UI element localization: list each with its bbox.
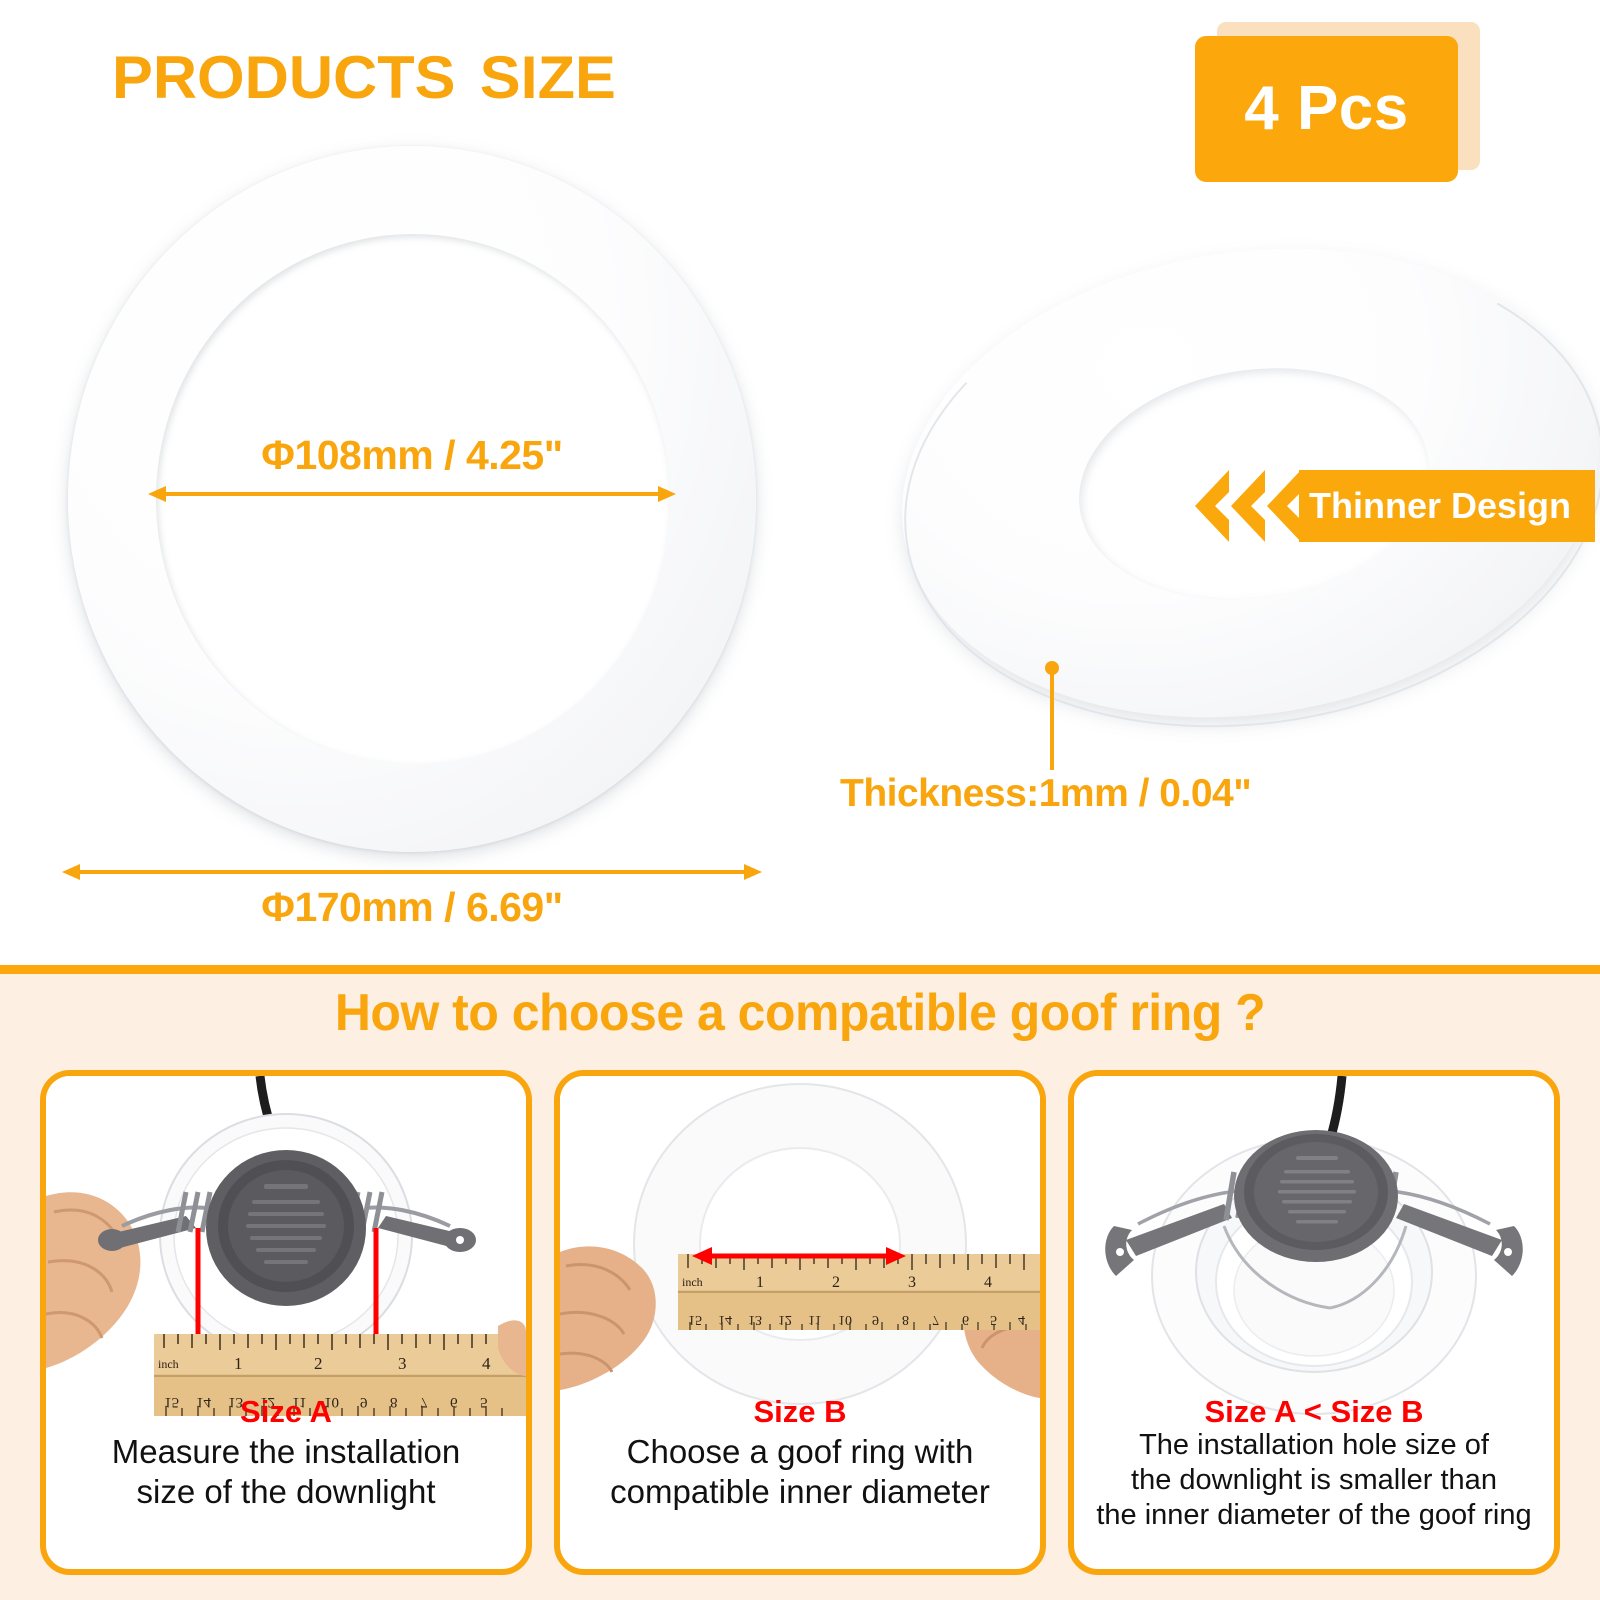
panel-size-tag: Size A [46, 1394, 526, 1430]
svg-text:12: 12 [778, 1312, 792, 1327]
thickness-callout: Thickness:1mm / 0.04" [840, 660, 1270, 830]
guide-panel-size-b: inch 1 2 3 4 15 14 13 12 11 10 [554, 1070, 1046, 1575]
thinner-design-banner-body: Thinner Design [1299, 470, 1595, 542]
outer-diameter-label: Φ170mm / 6.69" [62, 884, 762, 931]
svg-text:inch: inch [682, 1275, 703, 1289]
downlight-with-ruler-illustration: inch 1 2 3 4 15 14 13 12 11 10 [46, 1076, 526, 1416]
svg-text:4: 4 [482, 1354, 491, 1373]
svg-text:4: 4 [1018, 1312, 1025, 1327]
thinner-design-banner: Thinner Design [1193, 470, 1595, 542]
svg-text:1: 1 [756, 1274, 764, 1291]
inner-diameter-dimension: Φ108mm / 4.25" [148, 432, 676, 522]
how-to-choose-section: How to choose a compatible goof ring ? [0, 965, 1600, 1600]
guide-panel-comparison: Size A < Size B The installation hole si… [1068, 1070, 1560, 1575]
panel-caption-line: the downlight is smaller than [1084, 1463, 1544, 1498]
inner-diameter-arrow-icon [148, 482, 676, 506]
svg-text:11: 11 [808, 1312, 821, 1327]
outer-diameter-dimension: Φ170mm / 6.69" [62, 860, 762, 950]
svg-text:2: 2 [832, 1274, 840, 1291]
svg-text:4: 4 [984, 1274, 992, 1291]
svg-text:6: 6 [962, 1312, 969, 1327]
svg-text:14: 14 [718, 1312, 732, 1327]
quantity-badge: 4 Pcs [1195, 22, 1480, 182]
panel-caption: Measure the installation size of the dow… [46, 1432, 526, 1513]
svg-text:13: 13 [748, 1312, 762, 1327]
downlight-mounted-illustration [1074, 1076, 1554, 1416]
chevron-left-icon [1265, 470, 1301, 542]
svg-text:8: 8 [902, 1312, 909, 1327]
product-size-section: Products Size 4 Pcs Φ108mm / 4.25" [0, 0, 1600, 965]
panel-size-tag: Size B [560, 1394, 1040, 1430]
svg-text:3: 3 [908, 1274, 916, 1291]
panel-caption-line: The installation hole size of [1084, 1428, 1544, 1463]
section-accent-bar [0, 965, 1600, 974]
panel-size-tag: Size A < Size B [1074, 1394, 1554, 1430]
thickness-leader-line-icon [1040, 660, 1064, 772]
svg-text:9: 9 [872, 1312, 879, 1327]
thinner-design-label: Thinner Design [1309, 485, 1571, 527]
guide-panel-size-a: inch 1 2 3 4 15 14 13 12 11 10 [40, 1070, 532, 1575]
panel-caption-line: the inner diameter of the goof ring [1084, 1498, 1544, 1533]
chevron-left-icon [1229, 470, 1265, 542]
quantity-badge-label: 4 Pcs [1244, 78, 1409, 140]
panel-caption-line: Measure the installation [56, 1432, 516, 1472]
page-title: Products Size [112, 26, 616, 112]
infographic-page: Products Size 4 Pcs Φ108mm / 4.25" [0, 0, 1600, 1600]
quantity-badge-card: 4 Pcs [1195, 36, 1458, 182]
svg-text:inch: inch [158, 1357, 179, 1371]
panel-photo-measure-goof-ring: inch 1 2 3 4 15 14 13 12 11 10 [560, 1076, 1040, 1416]
panel-caption-line: compatible inner diameter [570, 1472, 1030, 1512]
panel-caption: Choose a goof ring with compatible inner… [560, 1432, 1040, 1513]
svg-text:2: 2 [314, 1354, 323, 1373]
panel-photo-downlight-in-ring [1074, 1076, 1554, 1416]
thickness-label: Thickness:1mm / 0.04" [840, 772, 1251, 816]
panel-photo-measure-downlight: inch 1 2 3 4 15 14 13 12 11 10 [46, 1076, 526, 1416]
inner-diameter-label: Φ108mm / 4.25" [148, 432, 676, 479]
goof-ring-with-ruler-illustration: inch 1 2 3 4 15 14 13 12 11 10 [560, 1076, 1040, 1416]
outer-diameter-arrow-icon [62, 860, 762, 884]
panel-caption-line: Choose a goof ring with [570, 1432, 1030, 1472]
panel-caption: The installation hole size of the downli… [1074, 1428, 1554, 1532]
panel-caption-line: size of the downlight [56, 1472, 516, 1512]
chevron-left-icon [1193, 470, 1229, 542]
section-heading: How to choose a compatible goof ring ? [32, 983, 1568, 1043]
svg-text:7: 7 [932, 1312, 939, 1327]
svg-text:1: 1 [234, 1354, 243, 1373]
guide-panel-list: inch 1 2 3 4 15 14 13 12 11 10 [40, 1070, 1560, 1575]
svg-text:3: 3 [398, 1354, 407, 1373]
